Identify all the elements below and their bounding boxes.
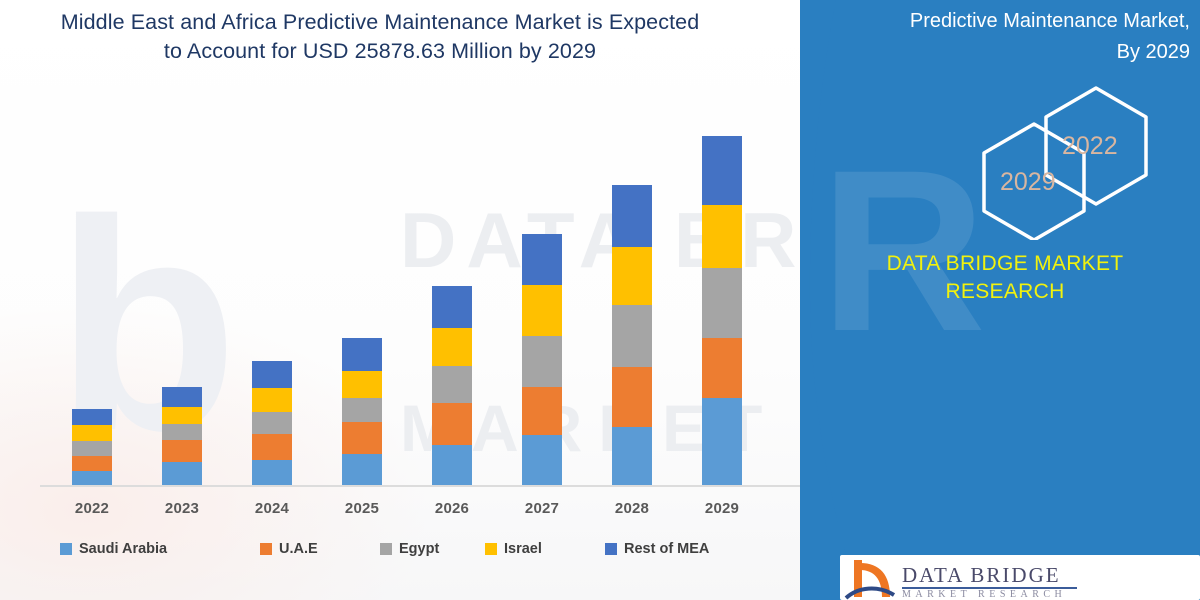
x-axis-tick-2025: 2025 xyxy=(322,500,402,517)
legend-label: Egypt xyxy=(399,541,439,557)
bar-segment-egypt-2024 xyxy=(252,412,292,434)
bar-column-2022 xyxy=(72,0,112,485)
bar-segment-rest-of-mea-2028 xyxy=(612,185,652,247)
bar-segment-u-a-e-2025 xyxy=(342,422,382,454)
bar-segment-u-a-e-2027 xyxy=(522,387,562,435)
bar-segment-israel-2023 xyxy=(162,407,202,424)
bar-column-2028 xyxy=(612,0,652,485)
chart-panel: b DATA BRIDGE MARKET RESEARCH Middle Eas… xyxy=(0,0,830,600)
bar-segment-u-a-e-2022 xyxy=(72,456,112,471)
bar-segment-saudi-arabia-2025 xyxy=(342,454,382,485)
bar-column-2027 xyxy=(522,0,562,485)
legend-label: Rest of MEA xyxy=(624,541,709,557)
bar-segment-israel-2029 xyxy=(702,205,742,268)
bar-segment-israel-2027 xyxy=(522,285,562,336)
x-axis-tick-2027: 2027 xyxy=(502,500,582,517)
legend-item-rest-of-mea[interactable]: Rest of MEA xyxy=(605,538,709,560)
bar-segment-saudi-arabia-2029 xyxy=(702,398,742,485)
logo-tagline: MARKET RESEARCH xyxy=(902,589,1066,600)
bar-segment-rest-of-mea-2023 xyxy=(162,387,202,407)
bar-segment-saudi-arabia-2023 xyxy=(162,462,202,485)
bar-segment-israel-2026 xyxy=(432,328,472,366)
x-axis-tick-2023: 2023 xyxy=(142,500,222,517)
bar-segment-rest-of-mea-2022 xyxy=(72,409,112,425)
legend-label: Saudi Arabia xyxy=(79,541,167,557)
bar-segment-egypt-2022 xyxy=(72,441,112,456)
legend-label: Israel xyxy=(504,541,542,557)
bar-column-2025 xyxy=(342,0,382,485)
bar-column-2024 xyxy=(252,0,292,485)
x-axis-tick-2024: 2024 xyxy=(232,500,312,517)
legend-swatch-icon xyxy=(260,543,272,555)
bar-segment-egypt-2025 xyxy=(342,398,382,422)
bar-segment-u-a-e-2029 xyxy=(702,338,742,398)
bar-segment-rest-of-mea-2025 xyxy=(342,338,382,371)
legend-item-egypt[interactable]: Egypt xyxy=(380,538,439,560)
legend-swatch-icon xyxy=(60,543,72,555)
brand-name-line-1: DATA BRIDGE MARKET xyxy=(840,250,1170,278)
bar-segment-u-a-e-2026 xyxy=(432,403,472,445)
x-axis-tick-2028: 2028 xyxy=(592,500,672,517)
bar-segment-egypt-2026 xyxy=(432,366,472,403)
bar-segment-saudi-arabia-2027 xyxy=(522,435,562,485)
bar-segment-egypt-2027 xyxy=(522,336,562,387)
bar-segment-saudi-arabia-2026 xyxy=(432,445,472,485)
legend-item-saudi-arabia[interactable]: Saudi Arabia xyxy=(60,538,167,560)
logo-card: DATA BRIDGE MARKET RESEARCH xyxy=(840,555,1200,600)
bar-segment-israel-2028 xyxy=(612,247,652,305)
bar-segment-israel-2025 xyxy=(342,371,382,398)
data-bridge-logo-icon xyxy=(844,557,900,600)
panel-heading-line-2: By 2029 xyxy=(820,37,1190,68)
bar-segment-u-a-e-2024 xyxy=(252,434,292,460)
hexagon-front-label: 2029 xyxy=(1000,168,1056,197)
hexagon-outlines xyxy=(900,80,1200,240)
brand-name-line-2: RESEARCH xyxy=(840,278,1170,306)
legend-swatch-icon xyxy=(605,543,617,555)
stacked-bar-chart: 20222023202420252026202720282029 xyxy=(0,0,830,530)
branding-panel: R Predictive Maintenance Market, By 2029… xyxy=(800,0,1200,600)
bar-segment-rest-of-mea-2027 xyxy=(522,234,562,285)
panel-heading: Predictive Maintenance Market, By 2029 xyxy=(820,6,1200,68)
legend-item-israel[interactable]: Israel xyxy=(485,538,542,560)
bar-segment-israel-2024 xyxy=(252,388,292,412)
x-axis-tick-2022: 2022 xyxy=(52,500,132,517)
brand-name: DATA BRIDGE MARKET RESEARCH xyxy=(840,250,1170,306)
bar-segment-saudi-arabia-2024 xyxy=(252,460,292,485)
bar-segment-egypt-2029 xyxy=(702,268,742,338)
legend-swatch-icon xyxy=(380,543,392,555)
bar-segment-rest-of-mea-2026 xyxy=(432,286,472,328)
bar-segment-egypt-2023 xyxy=(162,424,202,440)
x-axis-line xyxy=(40,485,800,487)
bar-segment-saudi-arabia-2028 xyxy=(612,427,652,485)
logo-wordmark: DATA BRIDGE xyxy=(902,563,1061,588)
legend-swatch-icon xyxy=(485,543,497,555)
hexagon-back-label: 2022 xyxy=(1062,132,1118,161)
hexagon-group: 2022 2029 xyxy=(900,80,1200,240)
chart-legend: Saudi ArabiaU.A.EEgyptIsraelRest of MEA xyxy=(60,538,760,562)
legend-label: U.A.E xyxy=(279,541,318,557)
bar-segment-saudi-arabia-2022 xyxy=(72,471,112,485)
bar-segment-rest-of-mea-2029 xyxy=(702,136,742,205)
bar-column-2026 xyxy=(432,0,472,485)
bar-column-2029 xyxy=(702,0,742,485)
bar-segment-egypt-2028 xyxy=(612,305,652,367)
bar-segment-israel-2022 xyxy=(72,425,112,441)
x-axis-tick-2026: 2026 xyxy=(412,500,492,517)
infographic-canvas: b DATA BRIDGE MARKET RESEARCH Middle Eas… xyxy=(0,0,1200,600)
bar-column-2023 xyxy=(162,0,202,485)
bar-segment-rest-of-mea-2024 xyxy=(252,361,292,388)
bar-segment-u-a-e-2023 xyxy=(162,440,202,462)
x-axis-tick-2029: 2029 xyxy=(682,500,762,517)
bar-segment-u-a-e-2028 xyxy=(612,367,652,427)
legend-item-u-a-e[interactable]: U.A.E xyxy=(260,538,318,560)
panel-heading-line-1: Predictive Maintenance Market, xyxy=(820,6,1190,37)
